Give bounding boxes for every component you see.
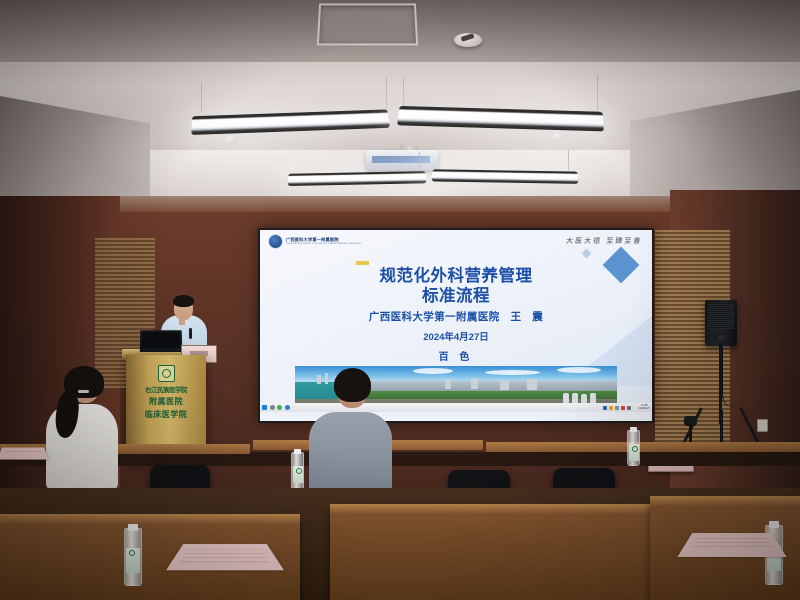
bottle-cap [630,427,637,432]
bottle-label [629,444,639,461]
water-bottle [124,528,142,586]
lamp-wire [386,78,387,110]
slide-city: 百 色 [260,348,652,363]
table-row-2-right-edge [650,496,800,506]
tray-icon-4[interactable] [621,406,625,410]
photo-building [500,380,509,390]
podium-signage: 右江民族医学院 附属医院 临床医学院 [126,365,206,420]
lamp-wire [419,152,420,170]
table-row-shadow [0,452,800,466]
hospital-crest-icon [158,365,175,382]
water-bottle [291,452,304,492]
photo-building [471,378,478,389]
conference-room-photo: 广西医科大学第一附属医院 THE FIRST AFFILIATED HOSPIT… [0,0,800,600]
slide-calligraphy-motto: 大医大德 至臻至善 [565,236,643,246]
laptop-screen[interactable] [142,332,180,348]
podium-org-line3: 临床医学院 [126,409,206,420]
bottle-cap [294,449,301,454]
projection-screen[interactable]: 广西医科大学第一附属医院 THE FIRST AFFILIATED HOSPIT… [260,230,652,421]
bottle-cap [769,521,779,528]
photo-building [317,375,321,384]
slide-title: 规范化外科营养管理 标准流程 [260,266,652,306]
smoke-detector-icon [454,33,482,47]
ceiling-access-panel [317,4,418,46]
podium-org-line2: 附属医院 [126,396,206,407]
windows-start-icon[interactable] [262,405,267,410]
lamp-wire [201,82,202,112]
paper-line [691,546,772,547]
wall-outlet-icon [757,419,768,432]
slide-diamond-small [582,249,592,259]
taskbar-clock[interactable]: 13:48 2024/4/27 [638,405,650,411]
photo-cloud [557,367,601,373]
smoke-detector-icon [224,135,238,144]
speaker-grille [708,303,734,329]
handout-paper [166,544,284,570]
lamp-wire [597,74,598,110]
clock-date: 2024/4/27 [638,408,650,411]
photo-cloud [485,370,540,375]
attendee-center-top [309,412,392,494]
paper-line [180,562,270,563]
hospital-logo-icon [268,234,283,249]
hair-clip-icon [78,390,89,393]
water-bottle [627,430,640,466]
app-icon-green[interactable] [277,405,282,410]
tray-icon-3[interactable] [615,406,619,410]
tray-icon-2[interactable] [609,406,613,410]
smoke-detector-icon [551,132,565,141]
slide-hospital-logo: 广西医科大学第一附属医院 THE FIRST AFFILIATED HOSPIT… [268,234,362,249]
search-icon[interactable] [270,405,275,410]
speaker-woofer [714,333,728,342]
table-row-2-left-edge [0,514,300,524]
bottle-cap [128,524,138,531]
photo-building [325,373,328,384]
attendee-center-hair [334,368,371,402]
tray-icon-5[interactable] [627,406,631,410]
photo-building [527,379,537,390]
slide-title-line2: 标准流程 [260,286,652,306]
linear-ceiling-lamp-icon [432,169,579,184]
handout-paper [0,447,48,459]
tray-icon-1[interactable] [603,406,607,410]
slide-logo-en: THE FIRST AFFILIATED HOSPITAL OF GUANGXI… [286,243,362,245]
ceiling-projector-icon [366,150,438,170]
presenter-neck [179,318,185,325]
table-row-1-right [486,442,800,452]
table-row-2-center [330,508,650,600]
speaker-cable [722,346,735,408]
photo-building [445,379,451,389]
presenter-laptop[interactable] [140,330,183,352]
presentation-slide[interactable]: 广西医科大学第一附属医院 THE FIRST AFFILIATED HOSPIT… [260,230,652,412]
podium-org-line1: 右江民族医学院 [126,385,206,394]
slide-affiliation: 广西医科大学第一附属医院 王 震 [260,309,652,324]
slide-title-line1: 规范化外科营养管理 [260,266,652,286]
table-row-2-center-edge [330,504,650,514]
lamp-wire [568,150,569,172]
bottle-label [126,548,140,573]
windows-taskbar[interactable]: 13:48 2024/4/27 [260,403,652,412]
projector-lens [372,156,430,163]
slide-accent-dash [356,261,369,265]
presenter-hair [173,295,194,307]
slide-date: 2024年4月27日 [260,329,652,343]
pa-speaker-icon [705,300,737,346]
photo-cloud [413,368,453,374]
app-icon-blue[interactable] [285,405,290,410]
bottle-label [293,466,303,483]
microphone-icon [189,328,192,339]
